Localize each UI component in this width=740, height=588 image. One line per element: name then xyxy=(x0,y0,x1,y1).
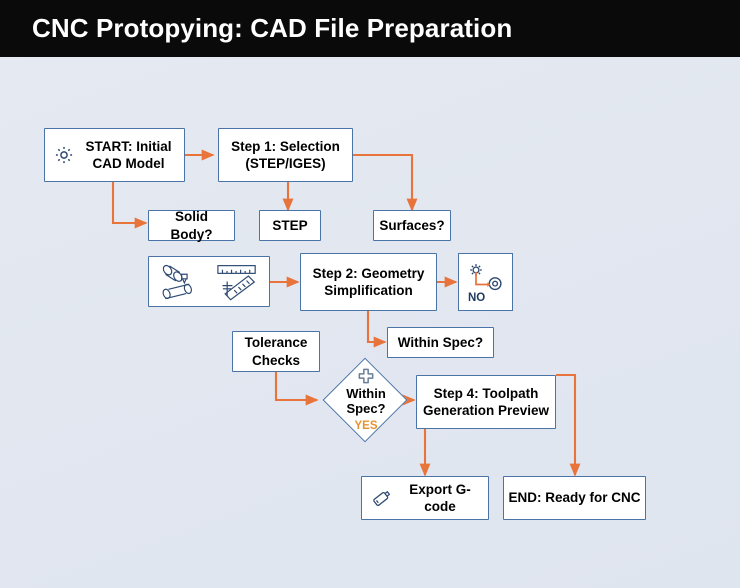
node-surfaces[interactable]: Surfaces? xyxy=(373,210,451,241)
node-no-retry[interactable]: NO xyxy=(458,253,513,311)
flowchart-area: START: InitialCAD Model Step 1: Selectio… xyxy=(0,57,740,588)
node-step-format-label: STEP xyxy=(268,217,311,234)
edge-step1-to-surfaces xyxy=(353,155,412,210)
node-surfaces-label: Surfaces? xyxy=(375,217,448,234)
node-step4[interactable]: Step 4: ToolpathGeneration Preview xyxy=(416,375,556,429)
node-no-label: NO xyxy=(468,292,485,304)
node-start[interactable]: START: InitialCAD Model xyxy=(44,128,185,182)
slide-canvas: CNC Protopying: CAD File Preparation xyxy=(0,0,740,588)
node-decision-within-spec[interactable] xyxy=(323,358,408,443)
node-step1[interactable]: Step 1: Selection(STEP/IGES) xyxy=(218,128,353,182)
node-step2-label: Step 2: GeometrySimplification xyxy=(309,265,429,300)
page-title: CNC Protopying: CAD File Preparation xyxy=(32,13,512,44)
usb-drive-icon xyxy=(370,487,394,509)
node-step2[interactable]: Step 2: GeometrySimplification xyxy=(300,253,437,311)
node-end[interactable]: END: Ready for CNC xyxy=(503,476,646,520)
gear-icon xyxy=(53,144,75,166)
node-end-label: END: Ready for CNC xyxy=(504,489,644,506)
node-step4-label: Step 4: ToolpathGeneration Preview xyxy=(419,385,553,420)
node-step-format[interactable]: STEP xyxy=(259,210,321,241)
node-tolerance-checks-label: ToleranceChecks xyxy=(241,334,312,369)
node-within-spec-box-label: Within Spec? xyxy=(394,334,487,351)
node-geometry-icons[interactable] xyxy=(148,256,270,307)
edge-start-to-solidbody xyxy=(113,182,146,223)
node-solid-body[interactable]: Solid Body? xyxy=(148,210,235,241)
node-solid-body-label: Solid Body? xyxy=(149,208,234,243)
edge-step4-to-end xyxy=(556,375,575,475)
edge-tolerance-to-decision xyxy=(276,372,317,400)
ruler-and-square-icon xyxy=(214,262,260,302)
node-start-label: START: InitialCAD Model xyxy=(75,138,184,173)
node-export-gcode[interactable]: Export G-code xyxy=(361,476,489,520)
node-export-gcode-label: Export G-code xyxy=(394,481,488,516)
cad-parts-icon xyxy=(159,262,207,302)
edge-step2-to-withinspec xyxy=(368,311,385,342)
slide-title-bar: CNC Protopying: CAD File Preparation xyxy=(0,0,740,57)
node-within-spec-box[interactable]: Within Spec? xyxy=(387,327,494,358)
node-tolerance-checks[interactable]: ToleranceChecks xyxy=(232,331,320,372)
node-step1-label: Step 1: Selection(STEP/IGES) xyxy=(227,138,344,173)
